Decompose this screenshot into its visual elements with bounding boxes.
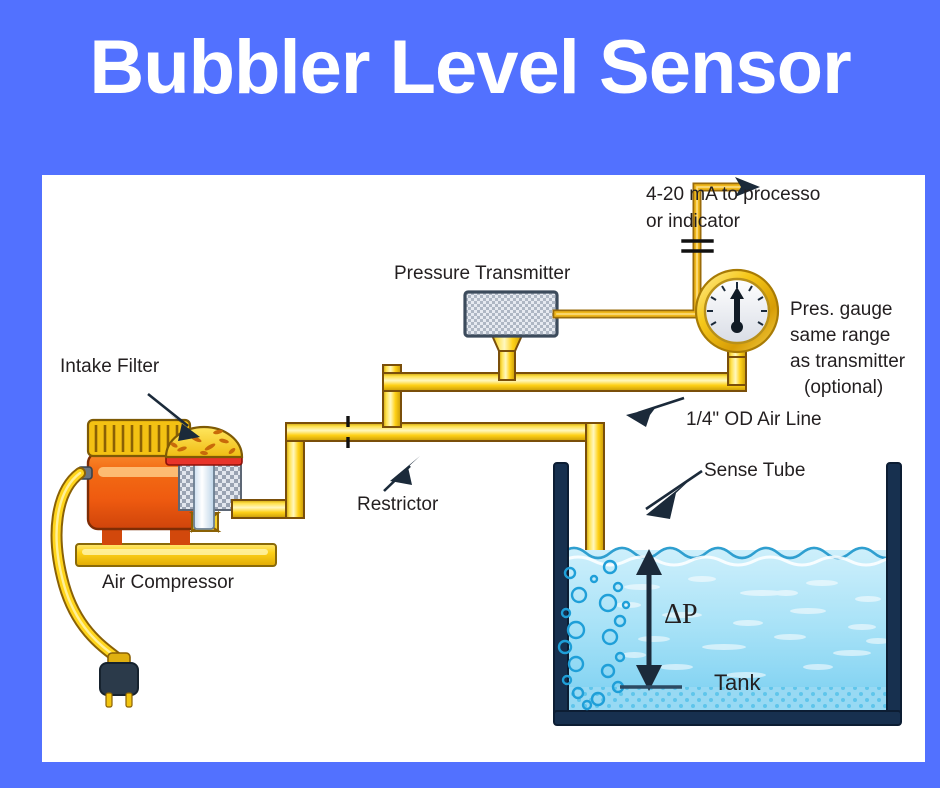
tank-label: Tank — [714, 670, 760, 696]
sense-tube-arrow — [646, 471, 702, 509]
sense-tube-label: Sense Tube — [704, 458, 805, 484]
restrictor-label: Restrictor — [357, 492, 438, 518]
air-line-label: 1/4" OD Air Line — [686, 407, 822, 433]
gauge-label-line1: Pres. gauge — [790, 297, 892, 323]
air-compressor-label: Air Compressor — [102, 570, 234, 596]
page-title: Bubbler Level Sensor — [0, 22, 940, 114]
signal-output-label-line1: 4-20 mA to processo — [646, 182, 820, 208]
screenshot-root: Bubbler Level Sensor — [0, 0, 940, 788]
pressure-transmitter — [465, 292, 557, 351]
gauge-label-line2: same range — [790, 323, 890, 349]
gauge-label-line4: (optional) — [804, 375, 883, 401]
signal-output-label-line2: or indicator — [646, 209, 740, 235]
gauge-label-line3: as transmitter — [790, 349, 905, 375]
diagram-panel: 4-20 mA to processo or indicator Pressur… — [42, 175, 925, 762]
pressure-gauge — [696, 270, 778, 357]
intake-filter-label: Intake Filter — [60, 354, 159, 380]
delta-p-label: ΔP — [664, 602, 698, 628]
pressure-transmitter-label: Pressure Transmitter — [394, 261, 570, 287]
